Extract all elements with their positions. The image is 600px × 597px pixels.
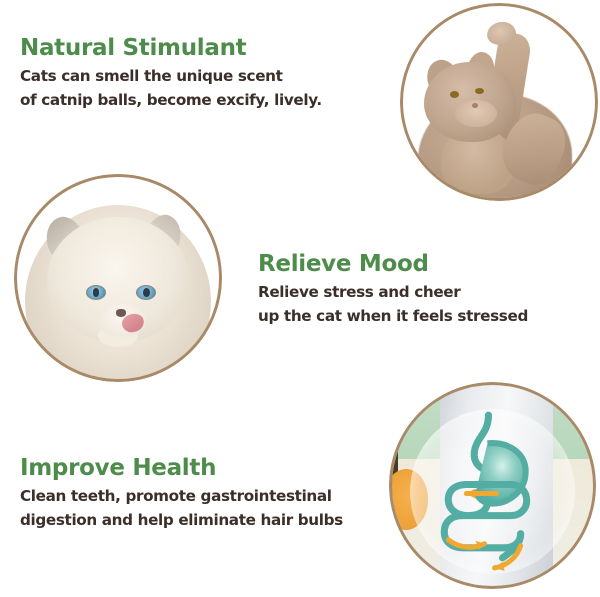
feature-title-relieve-mood: Relieve Mood [258,252,528,278]
cat-eye-left [450,91,459,98]
kitten-pupil-right [143,288,150,297]
feature-block-relieve-mood: Relieve Mood Relieve stress and cheer up… [258,252,528,329]
gastrointestinal-icon [392,385,593,586]
cat-eye-right [475,88,484,95]
digestion-diagram [389,382,596,589]
feature-title-improve-health: Improve Health [20,456,343,482]
cat-nose [472,103,478,108]
cat-playing-image [403,6,595,198]
cat-licking-photo [14,174,222,382]
feature-desc-line-2: of catnip balls, become excify, lively. [20,88,322,113]
feature-desc-line-2: up the cat when it feels stressed [258,304,528,329]
infographic-page: Natural Stimulant Cats can smell the uni… [0,0,600,597]
feature-title-natural-stimulant: Natural Stimulant [20,36,322,62]
feature-desc-line-1: Clean teeth, promote gastrointestinal [20,484,343,509]
arrowhead-1 [466,489,475,499]
cat-playing-photo [400,3,598,201]
digestion-image [392,385,593,586]
kitten-nose [116,309,126,316]
feature-block-improve-health: Improve Health Clean teeth, promote gast… [20,456,343,533]
feature-desc-line-1: Relieve stress and cheer [258,280,528,305]
feature-desc-line-2: digestion and help eliminate hair bulbs [20,508,343,533]
feature-block-natural-stimulant: Natural Stimulant Cats can smell the uni… [20,36,322,113]
cat-licking-image [17,177,219,379]
feature-desc-line-1: Cats can smell the unique scent [20,64,322,89]
